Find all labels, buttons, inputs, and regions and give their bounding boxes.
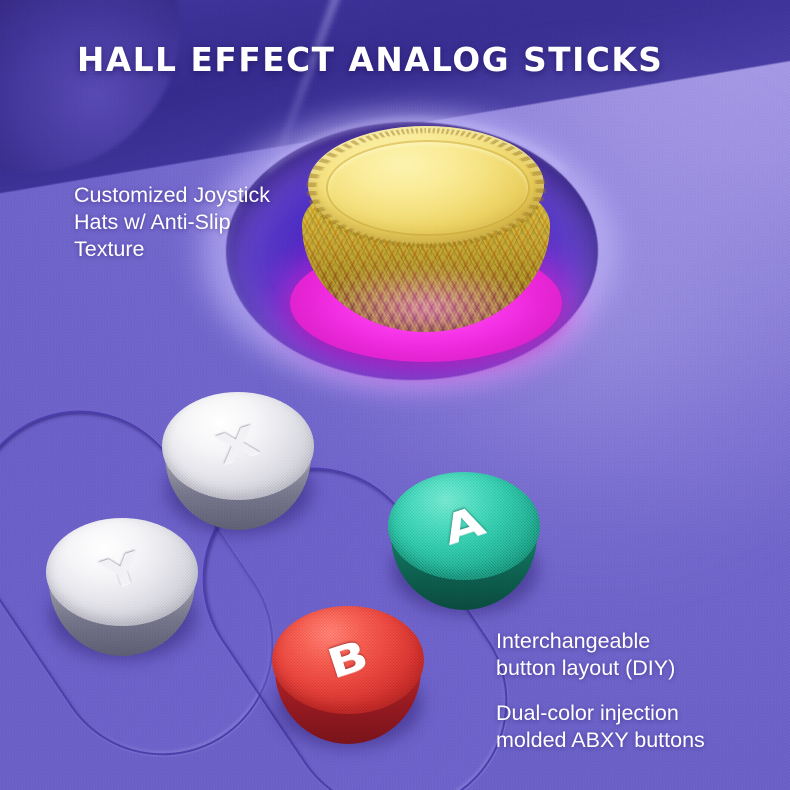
caption-molded-buttons: Dual-color injection molded ABXY buttons xyxy=(496,700,705,754)
product-showcase-image: Y X A B HALL EFFECT ANALOG STICKS Custom… xyxy=(0,0,790,790)
caption-button-layout: Interchangeable button layout (DIY) xyxy=(496,628,675,682)
caption-joystick-hats: Customized Joystick Hats w/ Anti-Slip Te… xyxy=(74,182,270,263)
page-title: HALL EFFECT ANALOG STICKS xyxy=(77,40,663,79)
